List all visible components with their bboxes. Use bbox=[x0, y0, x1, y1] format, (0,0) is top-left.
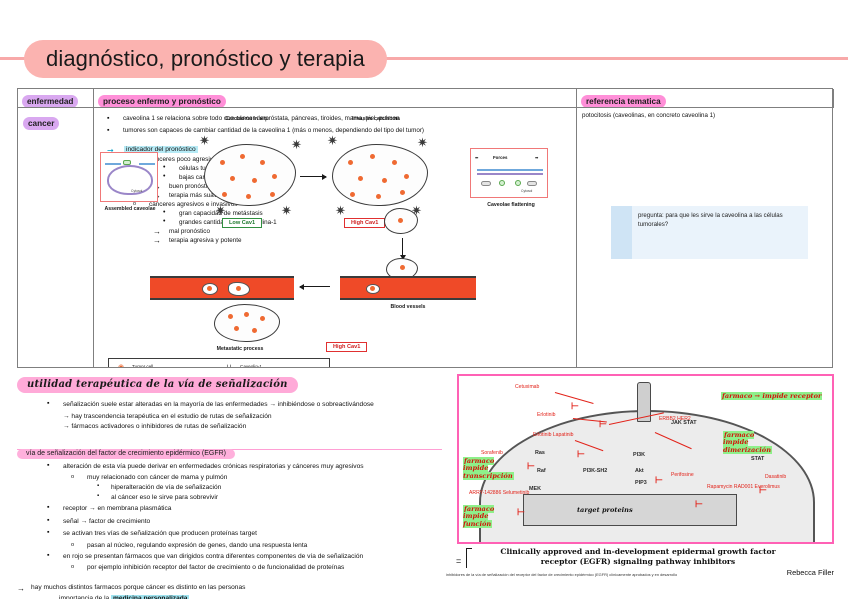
node-stat: STAT bbox=[751, 456, 764, 462]
inhibition-mark: ⊢ bbox=[527, 462, 535, 471]
tumor-cell-dot bbox=[404, 174, 409, 179]
tumor-cell-dot bbox=[244, 312, 249, 317]
fibroblast-icon: ✷ bbox=[416, 136, 429, 149]
caption-line-2: receptor (EGFR) signaling pathway inhibi… bbox=[470, 557, 800, 567]
reference-text: potocitosis (caveolinas, en concreto cav… bbox=[577, 108, 834, 123]
inhibition-mark: ⊢ bbox=[695, 500, 703, 509]
list-item: señalización suele estar alteradas en la… bbox=[17, 400, 442, 410]
question-callout: pregunta: para que les sirve la caveolin… bbox=[611, 206, 808, 259]
table-cell-process: caveolina 1 se relaciona sobre todo con … bbox=[94, 108, 577, 367]
badge-high-cav1-2: High Cav1 bbox=[326, 342, 367, 352]
tumor-cell-dot bbox=[252, 178, 257, 183]
blood-vessel-left bbox=[150, 276, 294, 300]
fibroblast-icon: ✷ bbox=[198, 134, 211, 147]
figure-label-carcinoma-in-situ: Carcinoma in situ bbox=[202, 116, 292, 122]
inset-assembled-caveolae: Cytosol bbox=[100, 152, 158, 202]
drug-erlotinib: Erlotinib bbox=[537, 412, 555, 418]
legend-item: ⊔Caveolin-1 bbox=[222, 363, 324, 367]
tumor-cell-icon: ◉ bbox=[114, 363, 128, 367]
figure-label-caveolae-flattening: Caveolae flattening bbox=[480, 202, 542, 209]
migration-arrow bbox=[402, 238, 403, 256]
list-item: en rojo se presentan fármacos que van di… bbox=[17, 552, 442, 562]
tumor-cell-dot bbox=[220, 160, 225, 165]
legend-label: Tumor cell bbox=[132, 363, 153, 367]
drug-rapamycin: Rapamycin RAD001 Everolimus bbox=[707, 484, 755, 490]
node-ras: Ras bbox=[535, 450, 545, 456]
tumor-cell-dot bbox=[400, 190, 405, 195]
tumor-cell-dot bbox=[392, 160, 397, 165]
table-cell-disease: cancer bbox=[18, 108, 94, 367]
caption-bracket bbox=[466, 548, 472, 568]
legend-label: Caveolin-1 bbox=[240, 363, 262, 367]
page-title-pill: diagnóstico, pronóstico y terapia bbox=[24, 40, 387, 78]
tumor-cell-dot bbox=[222, 192, 227, 197]
badge-high-cav1: High Cav1 bbox=[344, 218, 385, 228]
tumor-cell-dot bbox=[400, 265, 405, 270]
annotation-impide-dimerizacion: farmaco impide dimerización bbox=[723, 432, 779, 454]
drug-sorafenib: Sorafenib bbox=[481, 450, 503, 456]
header-label-enfermedad: enfermedad bbox=[22, 95, 78, 108]
annotation-text: farmaco impide transcripción bbox=[463, 457, 514, 480]
egfr-pathway-figure: Cetuximab Erlotinib Erlotinib Lapatinib … bbox=[457, 374, 834, 544]
notes-tail: hay muchos distintos farmacos porque cán… bbox=[17, 584, 442, 599]
tumor-cell-dot bbox=[260, 316, 265, 321]
equals-icon: = bbox=[456, 556, 461, 566]
list-item: alteración de esta vía puede derivar en … bbox=[17, 462, 442, 472]
author-name: Rebecca Filler bbox=[787, 568, 834, 577]
legend-item: ◉Tumor cell bbox=[114, 363, 216, 367]
disease-label: cancer bbox=[23, 117, 59, 130]
figure-label-blood-vessels: Blood vessels bbox=[370, 304, 446, 310]
caption-line-1: Clinically approved and in-development e… bbox=[470, 547, 800, 557]
tumor-cell-dot bbox=[348, 160, 353, 165]
question-text: pregunta: para que les sirve la caveolin… bbox=[632, 206, 808, 259]
inhibition-mark: ⊢ bbox=[759, 486, 767, 495]
flow-arrow bbox=[300, 286, 330, 287]
section-title-egfr: vía de señalización del factor de crecim… bbox=[17, 449, 235, 459]
drug-perifosine: Perifosine bbox=[671, 472, 694, 478]
annotation-impide-transcripcion: farmaco impide transcripción bbox=[463, 458, 513, 480]
fibroblast-icon: ✷ bbox=[326, 134, 339, 147]
progression-arrow bbox=[300, 176, 326, 177]
figure-label-invasive-carcinoma: Invasive carcinoma bbox=[326, 116, 426, 122]
inhibition-mark: ⊢ bbox=[517, 508, 525, 517]
tumor-cell-dot bbox=[252, 328, 257, 333]
section-title-utilidad: utilidad terapéutica de la vía de señali… bbox=[17, 377, 298, 393]
table-header-proceso: proceso enfermo y pronóstico bbox=[94, 89, 577, 108]
figure-caption: = Clinically approved and in-development… bbox=[470, 547, 800, 568]
node-jak-stat: JAK STAT bbox=[671, 420, 697, 426]
list-item: muy relacionado con cáncer de mama y pul… bbox=[17, 474, 442, 481]
drug-dasatinib: Dasatinib bbox=[765, 474, 786, 480]
node-pi3k-sh2: PI3K-SH2 bbox=[583, 468, 607, 474]
drug-selumetinib: ARRY-142886 Selumetinib bbox=[469, 490, 519, 496]
tumor-cell-dot bbox=[270, 192, 275, 197]
list-item: receptor → en membrana plasmática bbox=[17, 504, 442, 514]
section2-list: alteración de esta vía puede derivar en … bbox=[17, 462, 442, 572]
tumor-cell-dot bbox=[246, 194, 251, 199]
tail-prefix: importancia de la bbox=[59, 595, 111, 599]
tumor-cell-dot bbox=[230, 176, 235, 181]
tumor-cell-dot bbox=[260, 160, 265, 165]
node-mek: MEK bbox=[529, 486, 541, 492]
figure-label-assembled-caveolae: Assembled caveolae bbox=[96, 206, 164, 213]
badge-low-cav1: Low Cav1 bbox=[222, 218, 262, 228]
drug-erlotinib-lapatinib: Erlotinib Lapatinib bbox=[533, 432, 573, 439]
table-header-enfermedad: enfermedad bbox=[18, 89, 94, 108]
tumor-cell-dot bbox=[398, 218, 403, 223]
tumor-cell-dot bbox=[228, 314, 233, 319]
node-pi3k: PI3K bbox=[633, 452, 645, 458]
list-item: se activan tres vías de señalización que… bbox=[17, 529, 442, 539]
page-title-banner: diagnóstico, pronóstico y terapia bbox=[0, 40, 848, 78]
inhibition-mark: ⊢ bbox=[577, 450, 585, 459]
node-akt: Akt bbox=[635, 468, 644, 474]
blood-vessel-right bbox=[340, 276, 476, 300]
tumor-cell-dot bbox=[350, 192, 355, 197]
tumor-cell-dot bbox=[240, 154, 245, 159]
node-pip3: PIP3 bbox=[635, 480, 647, 486]
tumor-cell-dot bbox=[358, 176, 363, 181]
fibroblast-icon: ✷ bbox=[290, 138, 303, 151]
table-header-referencia: referencia tematica bbox=[577, 89, 834, 108]
list-item: señal → factor de crecimiento bbox=[17, 517, 442, 527]
notes-section: utilidad terapéutica de la vía de señali… bbox=[17, 374, 442, 599]
list-item: pasan al núcleo, regulando expresión de … bbox=[17, 542, 442, 549]
header-label-referencia: referencia tematica bbox=[581, 95, 666, 108]
tumor-cell-dot bbox=[234, 326, 239, 331]
drug-cetuximab: Cetuximab bbox=[515, 384, 539, 390]
annotation-text: farmaco impide dimerización bbox=[723, 431, 772, 454]
node-raf: Raf bbox=[537, 468, 546, 474]
tail-line-1: hay muchos distintos farmacos porque cán… bbox=[17, 584, 442, 591]
caveolin1-icon: ⊔ bbox=[222, 363, 236, 367]
fibroblast-icon: ✷ bbox=[280, 204, 293, 217]
inset-caveolae-flattening: ⬅ ➡ Forces Cytosol bbox=[470, 148, 548, 198]
section1-list: señalización suele estar alteradas en la… bbox=[17, 400, 442, 430]
annotation-impide-receptor: farmaco → impide receptor bbox=[721, 392, 822, 400]
list-item: → fármacos activadores o inhibidores de … bbox=[17, 423, 442, 430]
figure-label-metastatic-process: Metastatic process bbox=[190, 346, 290, 352]
annotation-text: farmaco impide función bbox=[463, 505, 494, 528]
figure-legend: ◉Tumor cell ⊔Caveolin-1 ━Myoepithelial c… bbox=[108, 358, 330, 367]
list-item: por ejemplo inhibición receptor del fact… bbox=[17, 564, 442, 571]
list-item: → hay trascendencia terapéutica en el es… bbox=[17, 413, 442, 420]
list-item: al cáncer eso le sirve para sobrevivir bbox=[17, 494, 442, 501]
table-cell-reference: potocitosis (caveolinas, en concreto cav… bbox=[577, 108, 834, 367]
fibroblast-icon: ✷ bbox=[214, 204, 227, 217]
section2-title-wrap: vía de señalización del factor de crecim… bbox=[17, 442, 442, 457]
tumor-cell-dot bbox=[272, 174, 277, 179]
inhibition-mark: ⊢ bbox=[571, 402, 579, 411]
tail-line-2: importancia de la medicina personalizada bbox=[17, 595, 442, 599]
caption-spanish: inhibidores de la vía de señalización de… bbox=[446, 572, 786, 577]
main-table: enfermedad proceso enfermo y pronóstico … bbox=[17, 88, 833, 368]
header-label-proceso: proceso enfermo y pronóstico bbox=[98, 95, 226, 108]
callout-stripe bbox=[611, 206, 632, 259]
page-title: diagnóstico, pronóstico y terapia bbox=[46, 46, 365, 72]
tumor-cell-dot bbox=[382, 178, 387, 183]
fibroblast-icon: ✷ bbox=[334, 204, 347, 217]
document-page: diagnóstico, pronóstico y terapia enferm… bbox=[0, 0, 848, 599]
inhibition-mark: ⊢ bbox=[655, 476, 663, 485]
caveolae-figure: Carcinoma in situ Invasive carcinoma bbox=[94, 108, 577, 367]
annotation-text: farmaco → impide receptor bbox=[721, 392, 822, 400]
tumor-cell-dot bbox=[376, 194, 381, 199]
annotation-impide-funcion: farmaco impide función bbox=[463, 506, 511, 528]
target-proteins-label: target proteins bbox=[577, 506, 633, 514]
list-item: hiperalteración de vía de señalización bbox=[17, 484, 442, 491]
highlight-medicina-personalizada: medicina personalizada bbox=[111, 595, 189, 599]
metastatic-mass bbox=[214, 304, 280, 342]
tumor-cell-dot bbox=[370, 154, 375, 159]
